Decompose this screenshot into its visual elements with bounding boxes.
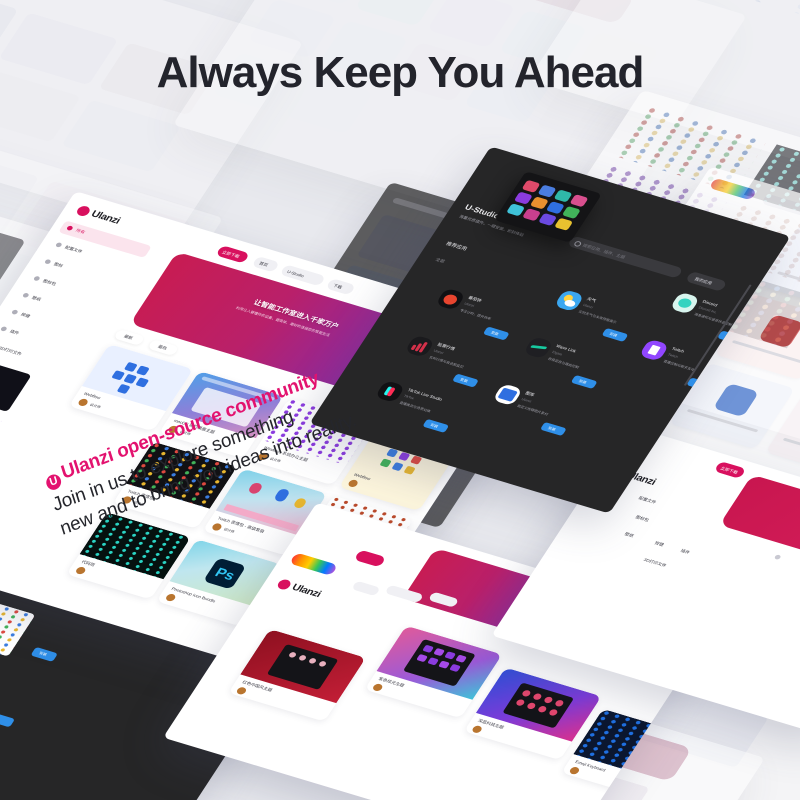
card-avatar <box>372 683 384 692</box>
app-developer: Ulanzi <box>521 397 533 403</box>
app-desc: 专注计时，提升效率 <box>459 308 492 321</box>
nav-chip-0[interactable] <box>351 581 381 597</box>
filter-dot-0[interactable] <box>774 554 782 560</box>
app-name: Twitch <box>671 346 686 354</box>
page-headline: Always Keep You Ahead <box>0 48 800 98</box>
nav-item-4[interactable]: 壁纸 <box>623 531 635 539</box>
app-developer: Elgato <box>551 350 563 356</box>
sidebar-item-3-label[interactable]: 图标包 <box>41 278 57 287</box>
sidebar-item-6-icon <box>0 326 8 332</box>
nav-item-3[interactable]: 图标包 <box>634 515 650 524</box>
sidebar-item-4-label[interactable]: 壁纸 <box>30 295 42 303</box>
card-avatar <box>165 593 177 602</box>
sidebar-thumb-0 <box>0 354 32 412</box>
card-avatar <box>471 725 483 734</box>
ulanzi-wordmark: Ulanzi <box>89 209 122 226</box>
content-card[interactable]: 红色中国风主题 <box>228 629 366 722</box>
sidebar-item-5-icon <box>11 309 19 315</box>
section-title: 推荐应用 <box>445 240 469 252</box>
banner-chip-0[interactable] <box>367 286 393 300</box>
item-thumb-0 <box>0 591 36 657</box>
app-desc: 实时行情与自选股监控 <box>428 355 465 369</box>
card-thumb-red-chinese <box>240 629 366 703</box>
nav-cta-download[interactable] <box>354 550 387 568</box>
app-desc: 直播推流与场景切换 <box>399 400 432 413</box>
sidebar-item-3-icon <box>33 276 41 282</box>
sidebar-item-1-icon <box>55 242 63 248</box>
sidebar-item-5-label[interactable]: 按键 <box>19 312 31 320</box>
app-developer: Twitch <box>667 353 679 359</box>
nav-item-5[interactable]: 按键 <box>653 540 665 548</box>
card-avatar <box>235 686 247 695</box>
app-developer: Ulanzi <box>463 302 475 308</box>
app-desc: 实时天气与未来预报展示 <box>578 309 618 324</box>
sidebar-item-1-label[interactable]: 配置文件 <box>63 245 83 255</box>
app-developer: Ulanzi <box>582 303 594 309</box>
sidebar-item-2-label[interactable]: 图标 <box>52 262 64 270</box>
sidebar-item-7-label[interactable]: 3D打印文件 <box>0 346 23 358</box>
card-author: 设计师 <box>89 402 102 409</box>
card-avatar <box>75 566 87 575</box>
app-name: 天气 <box>585 296 597 304</box>
hero-banner <box>719 475 800 567</box>
category-label: 全部 <box>434 257 446 265</box>
card-avatar <box>77 398 89 407</box>
nav-item-6[interactable]: 插件 <box>679 548 691 556</box>
app-name: 图库 <box>524 390 536 398</box>
card-thumb-purple-deck <box>377 626 503 700</box>
ulanzi-badge-icon: U <box>44 472 63 492</box>
app-desc: 音频混音与路由控制 <box>547 356 580 369</box>
card-thumb-blue-blocks <box>82 344 193 411</box>
sidebar-item-2-icon <box>44 259 52 265</box>
ulanzi-wordmark: Ulanzi <box>290 582 323 599</box>
install-button[interactable] <box>0 712 15 727</box>
app-desc: 直播控制与聊天互动 <box>663 359 696 372</box>
sidebar-item-4-icon <box>22 292 30 298</box>
app-developer: Ulanzi <box>433 349 445 355</box>
card-avatar <box>211 522 223 531</box>
composition-stage: Ulanzi 立即下载 首页 U-Studio 下载 让智能工作室进入千家万户 … <box>0 0 800 800</box>
app-desc: 自定义按键图片素材 <box>516 403 549 416</box>
card-avatar <box>568 766 580 775</box>
ulanzi-logo[interactable]: Ulanzi <box>75 205 122 227</box>
card-avatar <box>347 479 359 488</box>
card-author: 设计师 <box>223 527 236 534</box>
ulanzi-logo[interactable]: Ulanzi <box>276 578 323 600</box>
app-developer: TikTok <box>403 394 415 400</box>
sidebar-item-6-label[interactable]: 插件 <box>8 329 20 337</box>
nav-item-7[interactable]: 3D打印文件 <box>642 557 667 569</box>
card-thumb-blue-tech <box>476 668 602 742</box>
nav-item-1[interactable]: 配置文件 <box>637 495 657 505</box>
